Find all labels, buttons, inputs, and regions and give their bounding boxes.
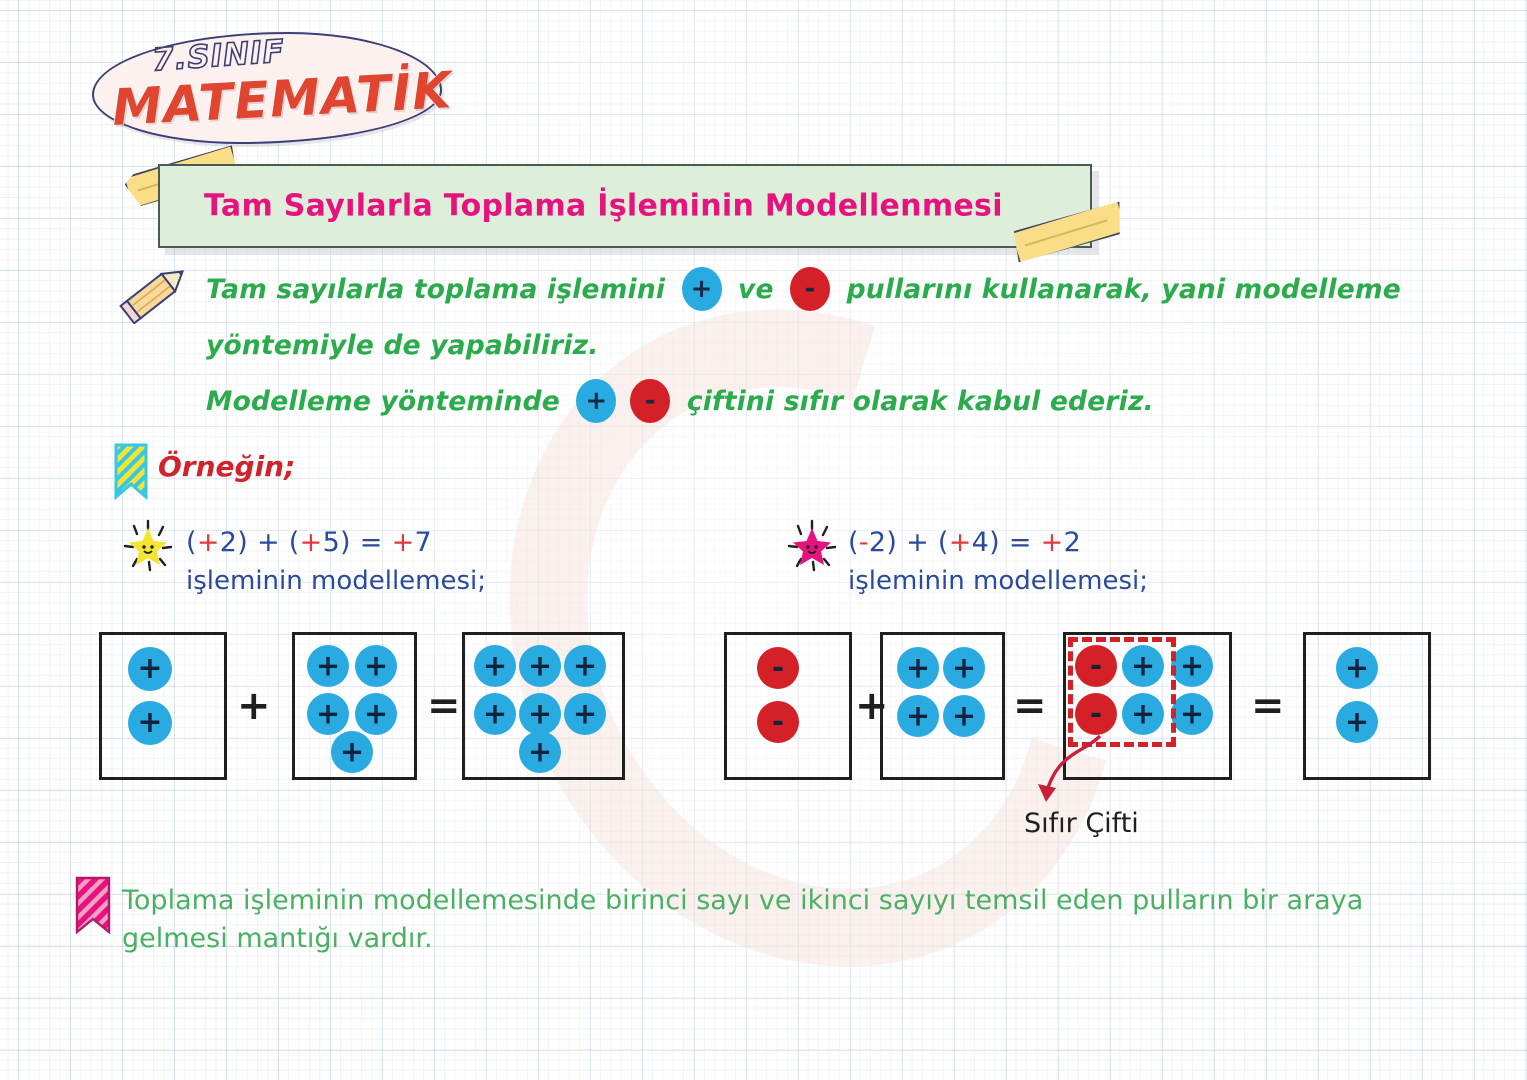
- zero-pair-label: Sıfır Çifti: [1024, 808, 1139, 839]
- chip-sign: -: [790, 276, 830, 302]
- eq-sign: +: [392, 527, 415, 558]
- eq-part: 2: [1064, 527, 1081, 558]
- plus-chip-icon: +: [682, 267, 722, 311]
- model-box-2a: - -: [724, 632, 852, 780]
- title-banner: Tam Sayılarla Toplama İşleminin Modellen…: [158, 164, 1092, 248]
- eq-part: 7: [415, 527, 432, 558]
- plus-chip-icon: +: [1336, 647, 1378, 689]
- example-2-equation: (-2) + (+4) = +2: [848, 527, 1148, 558]
- worksheet-page: 7.SINIF MATEMATİK Tam Sayılarla Toplama …: [0, 0, 1527, 1080]
- plus-chip-icon: +: [576, 379, 616, 423]
- eq-part: 5) =: [323, 527, 392, 558]
- course-logo: 7.SINIF MATEMATİK: [92, 32, 442, 144]
- model-box-1b: + + + + +: [292, 632, 417, 780]
- plus-chip-icon: +: [307, 693, 349, 735]
- intro-paragraph: Tam sayılarla toplama işlemini + ve - pu…: [206, 262, 1468, 430]
- plus-chip-icon: +: [331, 731, 373, 773]
- plus-chip-icon: +: [519, 693, 561, 735]
- intro-line-1-text-b: ve: [738, 274, 774, 305]
- eq-sign: +: [300, 527, 323, 558]
- plus-chip-icon: +: [1171, 645, 1213, 687]
- intro-line-1-text-a: Tam sayılarla toplama işlemini: [206, 274, 665, 305]
- plus-chip-icon: +: [943, 695, 985, 737]
- plus-chip-icon: +: [897, 647, 939, 689]
- plus-chip-icon: +: [519, 731, 561, 773]
- intro-line-3: Modelleme yönteminde + - çiftini sıfır o…: [206, 374, 1468, 430]
- minus-chip-icon: -: [757, 701, 799, 743]
- plus-chip-icon: +: [564, 693, 606, 735]
- chip-sign: -: [630, 388, 670, 414]
- intro-line-2: yöntemiyle de yapabiliriz.: [206, 318, 1468, 374]
- pencil-icon: [110, 262, 200, 324]
- footer-note-line-2: gelmesi mantığı vardır.: [122, 920, 1452, 958]
- plus-chip-icon: +: [519, 645, 561, 687]
- operator-equals: =: [1251, 683, 1285, 729]
- bookmark-icon: [74, 876, 112, 934]
- example-1-caption: işleminin modellemesi;: [186, 566, 486, 596]
- eq-sign: +: [1041, 527, 1064, 558]
- model-box-2b: + + + +: [880, 632, 1005, 780]
- plus-chip-icon: +: [474, 693, 516, 735]
- intro-line-3-text-b: çiftini sıfır olarak kabul ederiz.: [687, 386, 1154, 417]
- plus-chip-icon: +: [128, 701, 172, 745]
- model-box-2d: + +: [1303, 632, 1431, 780]
- operator-plus: +: [237, 683, 271, 729]
- star-icon: [782, 516, 842, 576]
- eq-part: 2) + (: [869, 527, 949, 558]
- minus-chip-icon: -: [630, 379, 670, 423]
- example-1-equation: (+2) + (+5) = +7: [186, 527, 486, 558]
- chip-sign: +: [576, 388, 616, 414]
- eq-sign: -: [859, 527, 869, 558]
- ornegin-label: Örneğin;: [158, 450, 295, 483]
- bookmark-icon: [113, 442, 149, 500]
- minus-chip-icon: -: [757, 647, 799, 689]
- plus-chip-icon: +: [564, 645, 606, 687]
- zero-pair-arrow-icon: [1020, 730, 1130, 820]
- plus-chip-icon: +: [1336, 701, 1378, 743]
- plus-chip-icon: +: [355, 645, 397, 687]
- plus-chip-icon: +: [474, 645, 516, 687]
- eq-part: (: [186, 527, 197, 558]
- operator-equals: =: [427, 683, 461, 729]
- eq-sign: +: [197, 527, 220, 558]
- intro-line-3-text-a: Modelleme yönteminde: [206, 386, 560, 417]
- intro-line-1-text-c: pullarını kullanarak, yani modelleme: [847, 274, 1401, 305]
- model-box-1a: + +: [99, 632, 227, 780]
- model-box-1c: + + + + + + +: [462, 632, 625, 780]
- chip-sign: +: [682, 276, 722, 302]
- example-2: (-2) + (+4) = +2 işleminin modellemesi;: [848, 527, 1148, 596]
- intro-line-1: Tam sayılarla toplama işlemini + ve - pu…: [206, 262, 1468, 318]
- star-icon: [118, 516, 178, 576]
- plus-chip-icon: +: [355, 693, 397, 735]
- plus-chip-icon: +: [307, 645, 349, 687]
- example-1: (+2) + (+5) = +7 işleminin modellemesi;: [186, 527, 486, 596]
- footer-note: Toplama işleminin modellemesinde birinci…: [122, 882, 1452, 958]
- eq-sign: +: [949, 527, 972, 558]
- eq-part: 4) =: [972, 527, 1041, 558]
- plus-chip-icon: +: [1171, 693, 1213, 735]
- operator-equals: =: [1013, 683, 1047, 729]
- eq-part: (: [848, 527, 859, 558]
- minus-chip-icon: -: [790, 267, 830, 311]
- plus-chip-icon: +: [897, 695, 939, 737]
- plus-chip-icon: +: [128, 647, 172, 691]
- footer-note-line-1: Toplama işleminin modellemesinde birinci…: [122, 882, 1452, 920]
- eq-part: 2) + (: [220, 527, 300, 558]
- plus-chip-icon: +: [943, 647, 985, 689]
- page-title: Tam Sayılarla Toplama İşleminin Modellen…: [204, 189, 1003, 224]
- example-2-caption: işleminin modellemesi;: [848, 566, 1148, 596]
